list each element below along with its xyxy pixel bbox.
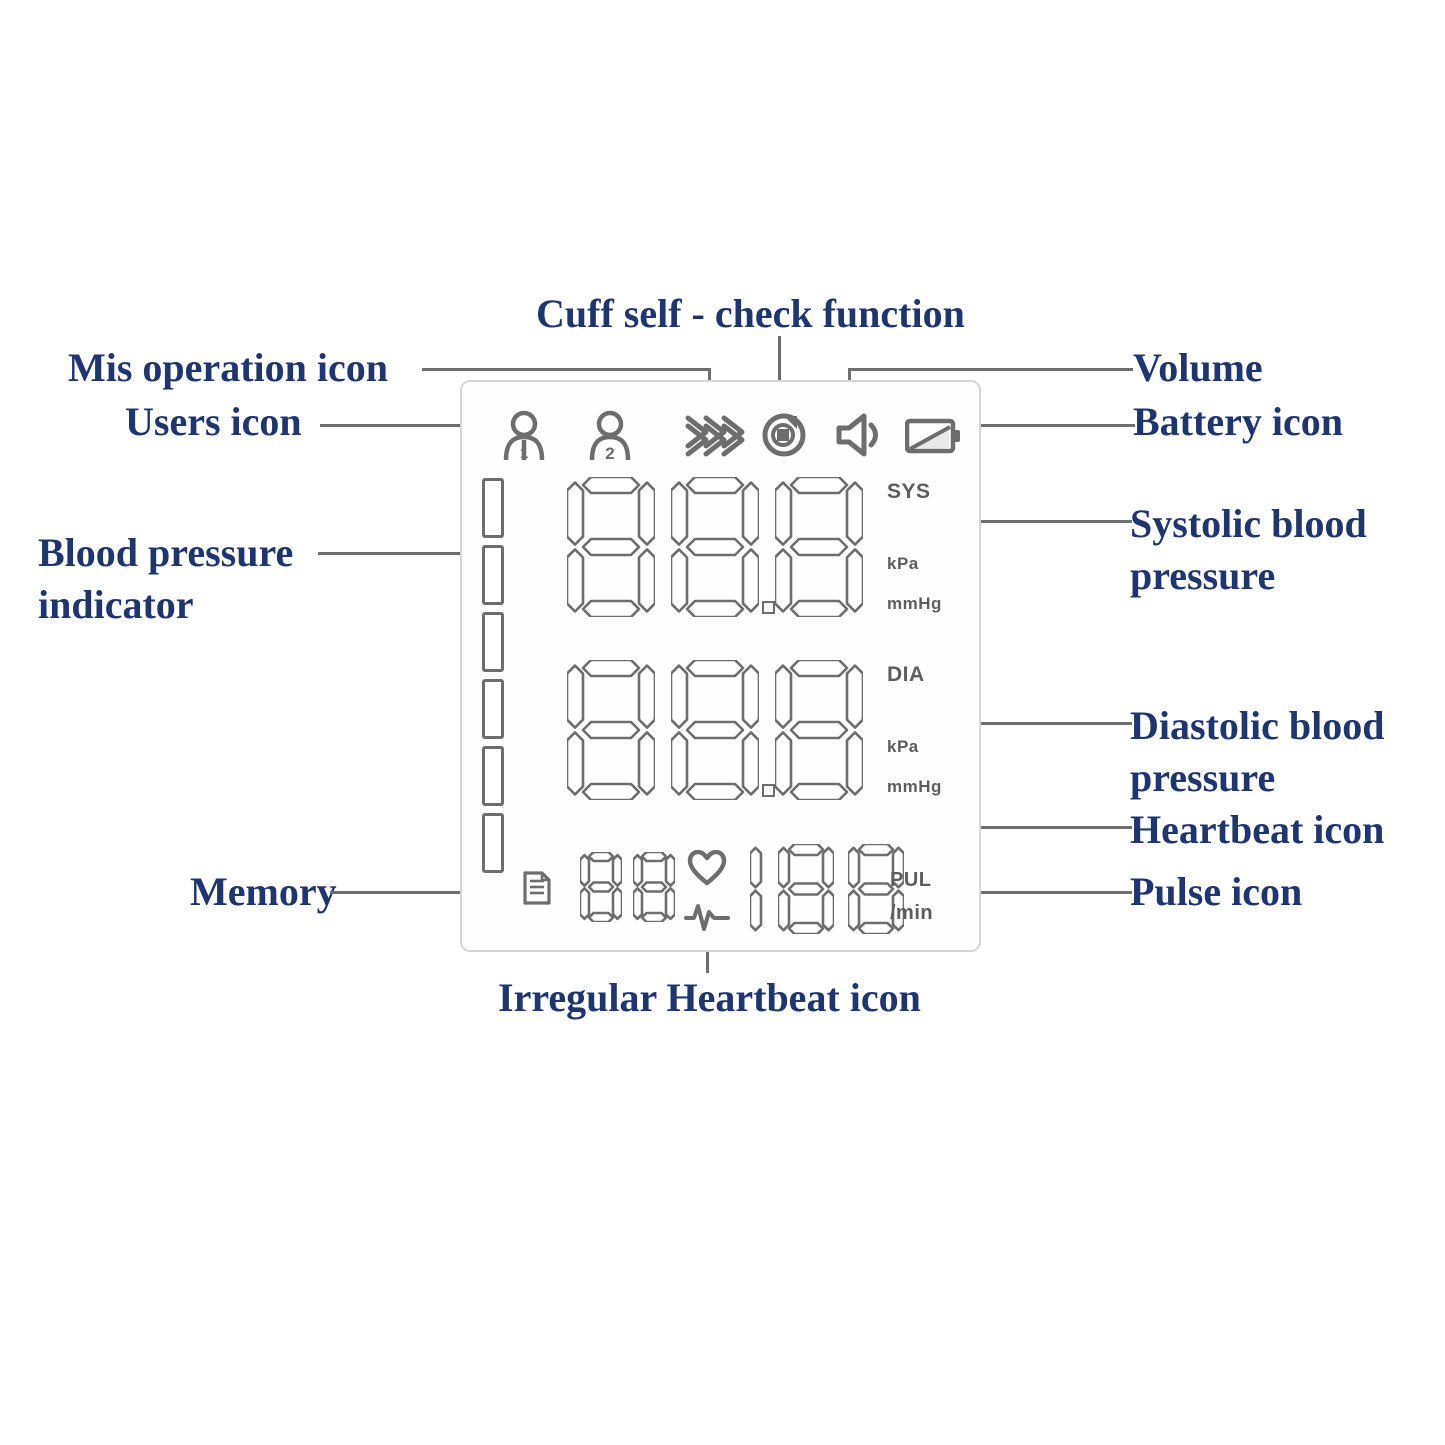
battery-icon[interactable] (905, 416, 963, 461)
bp-bar-5 (482, 746, 504, 806)
user-1-icon[interactable]: 1 (502, 410, 546, 467)
mem-digit-2 (633, 852, 675, 922)
sys-digit-1 (567, 477, 655, 617)
bp-bar-2 (482, 545, 504, 605)
sys-mmhg-label: mmHg (887, 594, 942, 614)
memory-icon[interactable] (522, 870, 552, 911)
callout-blood-pressure-indicator: Blood pressure indicator (38, 527, 293, 631)
memory-digits (580, 852, 675, 922)
user-2-badge: 2 (605, 444, 614, 462)
lcd-panel: 1 2 (460, 380, 981, 952)
dia-mmhg-label: mmHg (887, 777, 942, 797)
heartbeat-icon[interactable] (687, 850, 727, 891)
callout-mis-operation-icon: Mis operation icon (68, 342, 388, 394)
callout-systolic-blood-pressure: Systolic blood pressure (1130, 498, 1367, 602)
callout-diastolic-blood-pressure: Diastolic blood pressure (1130, 700, 1384, 804)
mis-operation-icon[interactable] (684, 412, 746, 465)
callout-battery-icon: Battery icon (1133, 396, 1343, 448)
sys-unit-label: SYS (887, 480, 931, 504)
callout-pulse-icon: Pulse icon (1130, 866, 1302, 918)
callout-memory: Memory (190, 866, 337, 918)
bp-bar-4 (482, 679, 504, 739)
leader-volume-h (848, 368, 1133, 371)
callout-heartbeat-icon: Heartbeat icon (1130, 804, 1384, 856)
dia-digit-2 (671, 660, 759, 800)
title-cuff-self-check: Cuff self - check function (536, 288, 965, 340)
sys-digit-2 (671, 477, 759, 617)
diastolic-digits (567, 660, 863, 800)
systolic-digits (567, 477, 863, 617)
irregular-heartbeat-icon[interactable] (684, 902, 730, 937)
bp-bar-6 (482, 813, 504, 873)
sys-digit-3 (775, 477, 863, 617)
dia-digit-3 (775, 660, 863, 800)
dia-decimal-point (762, 784, 775, 797)
pulse-digits (750, 844, 904, 934)
dia-unit-label: DIA (887, 663, 925, 687)
volume-icon[interactable] (834, 412, 884, 463)
callout-volume: Volume (1133, 342, 1263, 394)
sys-kpa-label: kPa (887, 554, 919, 574)
pulse-rate-label: /min (890, 902, 933, 925)
bp-bar-3 (482, 612, 504, 672)
user-1-badge: 1 (520, 445, 528, 462)
mem-digit-1 (580, 852, 622, 922)
sys-decimal-point (762, 601, 775, 614)
leader-mis-operation (422, 368, 710, 371)
title-irregular-heartbeat: Irregular Heartbeat icon (498, 972, 921, 1024)
dia-digit-1 (567, 660, 655, 800)
dia-kpa-label: kPa (887, 737, 919, 757)
pul-digit-1 (750, 844, 764, 934)
callout-users-icon: Users icon (125, 396, 302, 448)
cuff-self-check-icon[interactable] (759, 410, 809, 465)
user-2-icon[interactable]: 2 (588, 410, 632, 467)
bp-bar-1 (482, 478, 504, 538)
pul-digit-2 (778, 844, 834, 934)
pulse-unit-label: PUL (890, 869, 932, 892)
